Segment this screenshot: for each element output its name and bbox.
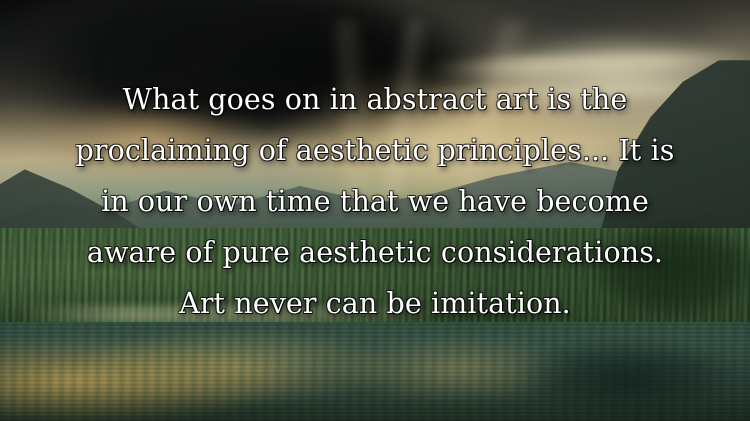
card-footer: QUOTEREAD Hans Hofmann (0, 361, 750, 421)
quote-text: What goes on in abstract art is the proc… (24, 74, 726, 329)
quote-card: What goes on in abstract art is the proc… (0, 0, 750, 421)
